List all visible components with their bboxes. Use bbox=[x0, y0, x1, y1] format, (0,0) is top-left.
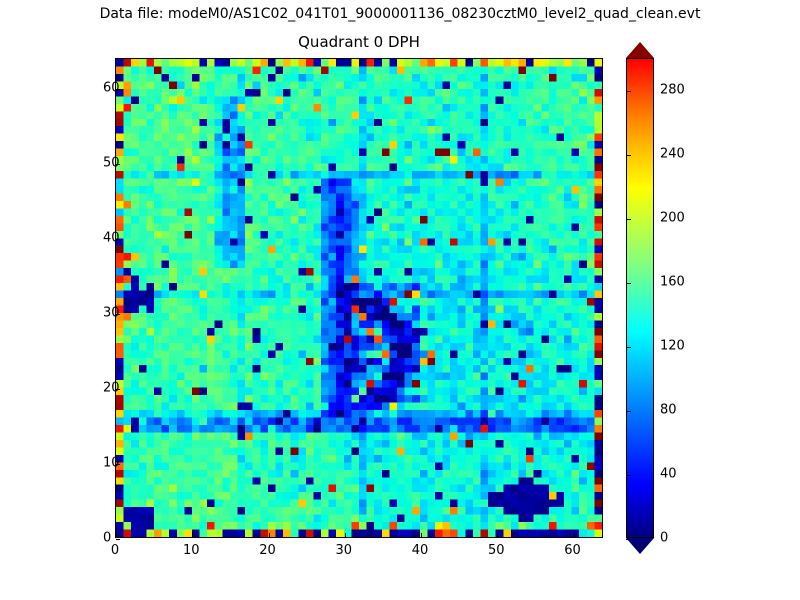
x-tick-mark bbox=[574, 533, 575, 537]
colorbar-tick-label: 80 bbox=[660, 403, 677, 418]
colorbar-tick-label: 200 bbox=[660, 211, 685, 226]
x-tick-label: 30 bbox=[335, 543, 352, 558]
colorbar-gradient bbox=[626, 58, 654, 538]
colorbar-over-arrow-icon bbox=[626, 42, 654, 58]
x-tick-mark bbox=[421, 533, 422, 537]
x-tick-label: 40 bbox=[412, 543, 429, 558]
dph-heatmap-image[interactable] bbox=[116, 59, 602, 537]
colorbar-tick-mark bbox=[626, 155, 631, 156]
colorbar[interactable] bbox=[626, 42, 654, 554]
colorbar-tick-label: 240 bbox=[660, 147, 685, 162]
colorbar-tick-label: 0 bbox=[660, 531, 668, 546]
x-tick-mark bbox=[497, 533, 498, 537]
x-tick-label: 60 bbox=[564, 543, 581, 558]
colorbar-tick-mark bbox=[626, 475, 631, 476]
colorbar-tick-mark bbox=[626, 219, 631, 220]
x-tick-label: 10 bbox=[183, 543, 200, 558]
x-tick-mark bbox=[192, 533, 193, 537]
colorbar-tick-label: 120 bbox=[660, 339, 685, 354]
figure-canvas: Data file: modeM0/AS1C02_041T01_90000011… bbox=[0, 0, 800, 600]
colorbar-tick-mark bbox=[626, 411, 631, 412]
x-tick-label: 20 bbox=[259, 543, 276, 558]
x-tick-mark bbox=[269, 533, 270, 537]
colorbar-tick-mark bbox=[626, 347, 631, 348]
x-tick-label: 0 bbox=[111, 543, 119, 558]
colorbar-tick-label: 40 bbox=[660, 467, 677, 482]
x-tick-mark bbox=[345, 533, 346, 537]
colorbar-tick-mark bbox=[626, 283, 631, 284]
x-tick-label: 50 bbox=[488, 543, 505, 558]
data-file-suptitle: Data file: modeM0/AS1C02_041T01_90000011… bbox=[0, 6, 800, 22]
colorbar-tick-mark bbox=[626, 91, 631, 92]
y-tick-mark bbox=[116, 539, 120, 540]
heatmap-axes[interactable] bbox=[115, 58, 603, 538]
colorbar-tick-label: 280 bbox=[660, 83, 685, 98]
colorbar-under-arrow-icon bbox=[626, 538, 654, 554]
x-tick-mark bbox=[116, 533, 117, 537]
plot-title: Quadrant 0 DPH bbox=[115, 33, 603, 51]
colorbar-tick-label: 160 bbox=[660, 275, 685, 290]
